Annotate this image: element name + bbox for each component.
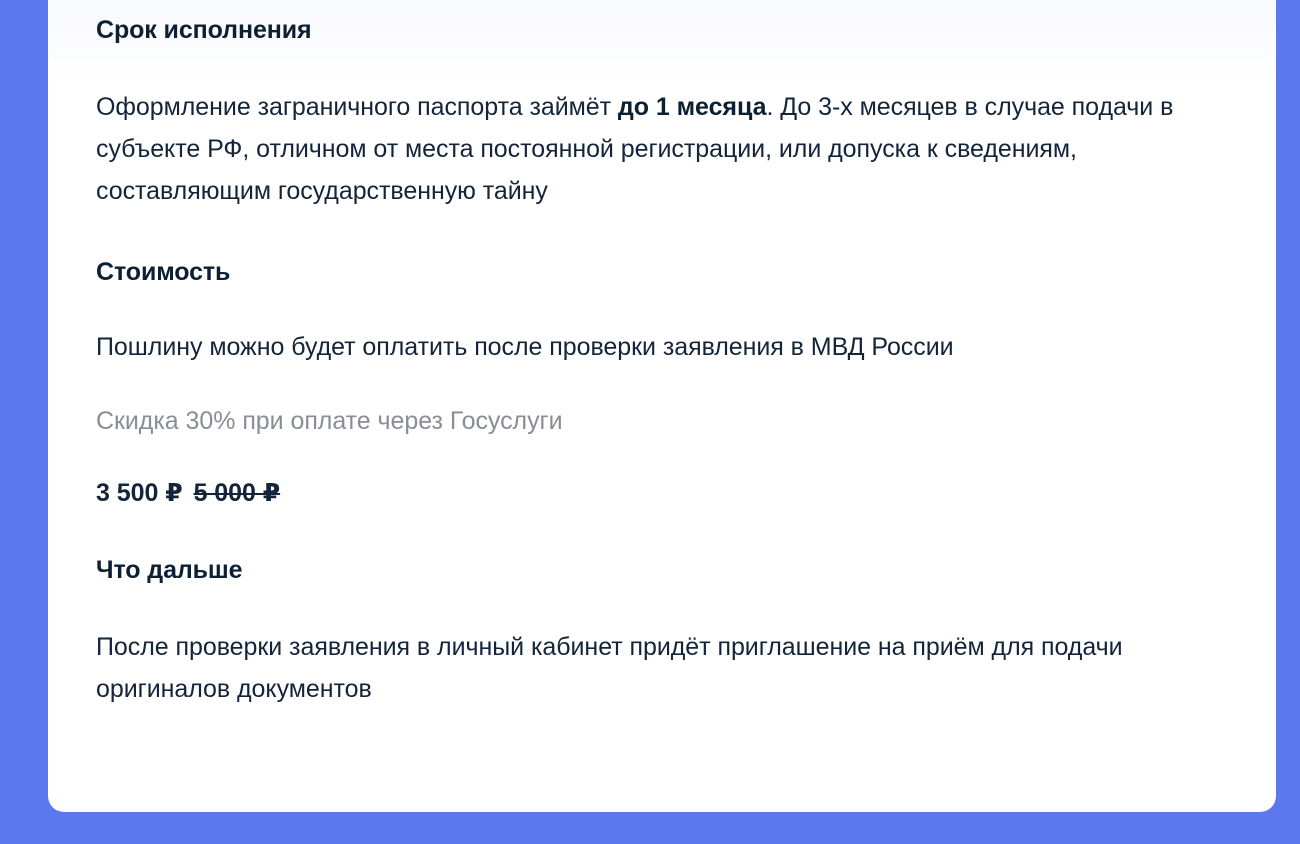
deadline-paragraph: Оформление заграничного паспорта займёт … [96,86,1216,212]
spacer [96,510,1216,554]
spacer [96,288,1216,326]
price-row: 3 500 ₽5 000 ₽ [96,476,1216,510]
card-content: Срок исполнения Оформление заграничного … [96,0,1276,812]
section-title-next-steps: Что дальше [96,554,1216,586]
section-title-deadline: Срок исполнения [96,14,1216,46]
section-cost: Стоимость Пошлину можно будет оплатить п… [96,256,1216,510]
spacer [96,586,1216,626]
page-background: Срок исполнения Оформление заграничного … [0,0,1300,844]
spacer [96,212,1216,256]
section-title-cost: Стоимость [96,256,1216,288]
spacer [96,46,1216,86]
deadline-text-prefix: Оформление заграничного паспорта займёт [96,93,618,121]
cost-paragraph: Пошлину можно будет оплатить после прове… [96,326,1216,368]
service-info-card: Срок исполнения Оформление заграничного … [48,0,1276,812]
spacer [96,368,1216,400]
section-deadline: Срок исполнения Оформление заграничного … [96,14,1216,212]
deadline-text-emphasis: до 1 месяца [618,93,767,121]
spacer [96,442,1216,476]
section-next-steps: Что дальше После проверки заявления в ли… [96,554,1216,710]
next-steps-paragraph: После проверки заявления в личный кабине… [96,626,1216,710]
price-old: 5 000 ₽ [194,479,281,507]
discount-note: Скидка 30% при оплате через Госуслуги [96,400,1216,442]
price-current: 3 500 ₽ [96,479,183,507]
